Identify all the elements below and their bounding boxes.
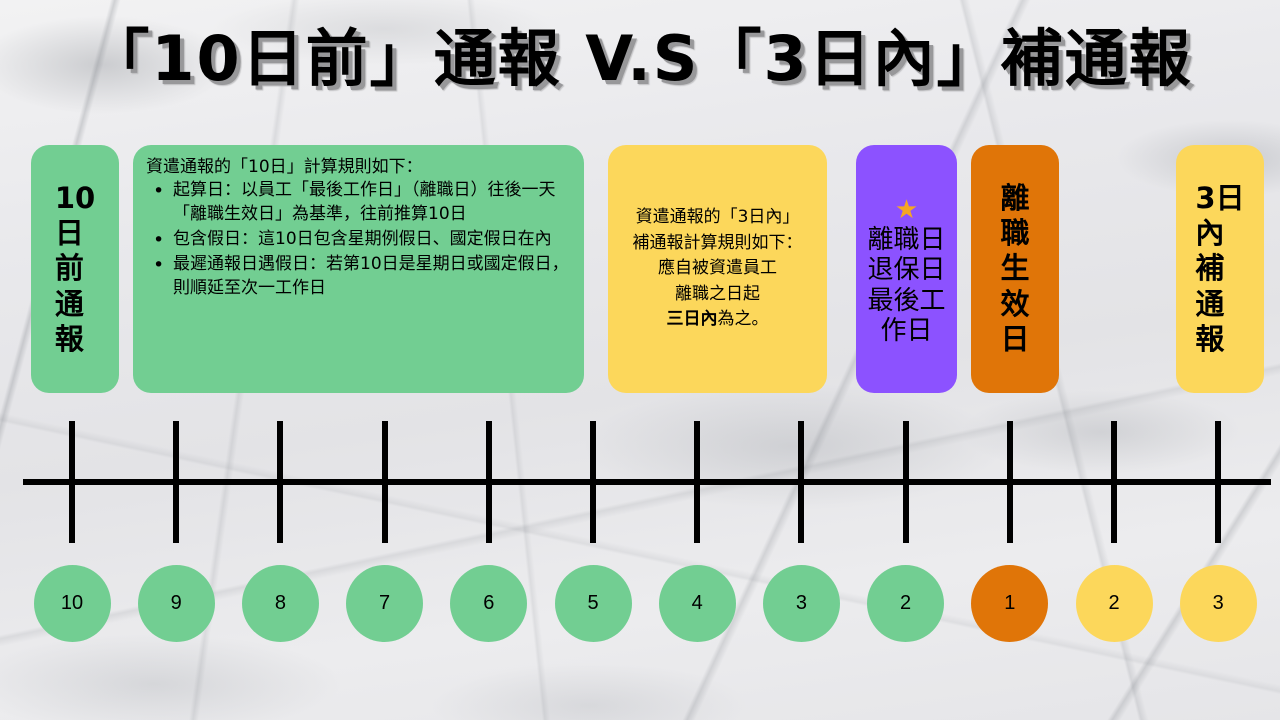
rules-10-days-heading: 資遣通報的「10日」計算規則如下：	[146, 156, 572, 178]
leave-day-line-3: 最後工	[867, 286, 945, 316]
star-icon: ★	[895, 196, 918, 222]
rules-3-days-tail: 為之。	[718, 309, 769, 329]
card-supplement-3-days: 3日 內 補 通 報	[1176, 145, 1264, 393]
timeline-day-circle: 4	[659, 565, 736, 642]
page-title: 「10日前」通報 V.S「3日內」補通報	[0, 26, 1280, 91]
timeline-tick	[903, 421, 909, 543]
card-leave-day-label: 離職日退保日最後工作日	[867, 225, 945, 347]
timeline-tick	[486, 421, 492, 543]
timeline-tick	[69, 421, 75, 543]
rules-3-days-line-4: 離職之日起	[675, 284, 760, 304]
timeline-tick	[590, 421, 596, 543]
list-item: 起算日：以員工「最後工作日」（離職日）往後一天「離職生效日」為基準，往前推算10…	[173, 179, 572, 227]
timeline-tick	[798, 421, 804, 543]
timeline-day-circle: 3	[763, 565, 840, 642]
rules-10-days-list: 起算日：以員工「最後工作日」（離職日）往後一天「離職生效日」為基準，往前推算10…	[146, 179, 572, 300]
rules-3-days-text: 資遣通報的「3日內」補通報計算規則如下：應自被資遣員工離職之日起三日內為之。	[633, 205, 803, 333]
card-supplement-3-days-label: 3日 內 補 通 報	[1176, 145, 1264, 393]
card-leave-day: ★ 離職日退保日最後工作日	[856, 145, 957, 393]
card-rules-3-days: 資遣通報的「3日內」補通報計算規則如下：應自被資遣員工離職之日起三日內為之。	[608, 145, 827, 393]
list-item: 最遲通報日遇假日：若第10日是星期日或國定假日，則順延至次一工作日	[173, 253, 572, 301]
timeline-day-circle: 10	[34, 565, 111, 642]
card-rules-10-days: 資遣通報的「10日」計算規則如下： 起算日：以員工「最後工作日」（離職日）往後一…	[133, 145, 584, 393]
timeline-day-circle: 2	[1076, 565, 1153, 642]
leave-day-line-1: 離職日	[867, 225, 945, 255]
card-effective-day-label: 離 職 生 效 日	[971, 145, 1059, 393]
timeline-day-circle: 3	[1180, 565, 1257, 642]
timeline-tick	[277, 421, 283, 543]
timeline-day-circle: 2	[867, 565, 944, 642]
card-effective-day: 離 職 生 效 日	[971, 145, 1059, 393]
list-item: 包含假日：這10日包含星期例假日、國定假日在內	[173, 228, 572, 252]
leave-day-line-4: 作日	[880, 316, 932, 346]
leave-day-line-2: 退保日	[867, 255, 945, 285]
timeline-day-circle: 6	[450, 565, 527, 642]
timeline-tick	[1215, 421, 1221, 543]
rules-3-days-bold-emphasis: 三日內	[667, 309, 718, 329]
rules-3-days-line-3: 應自被資遣員工	[658, 258, 777, 278]
timeline-axis	[23, 479, 1271, 485]
timeline-day-circle: 8	[242, 565, 319, 642]
timeline-tick	[1111, 421, 1117, 543]
rules-3-days-line-1: 資遣通報的「3日內」	[636, 207, 800, 227]
timeline-tick	[694, 421, 700, 543]
timeline-day-circle: 5	[555, 565, 632, 642]
timeline-day-circle: 1	[971, 565, 1048, 642]
card-notice-10-days-before-label: 10 日 前 通 報	[31, 145, 119, 393]
timeline-tick	[1007, 421, 1013, 543]
timeline-tick	[382, 421, 388, 543]
card-notice-10-days-before: 10 日 前 通 報	[31, 145, 119, 393]
rules-3-days-line-2: 補通報計算規則如下：	[633, 233, 803, 253]
timeline-day-circle: 9	[138, 565, 215, 642]
timeline-day-circle: 7	[346, 565, 423, 642]
timeline-tick	[173, 421, 179, 543]
